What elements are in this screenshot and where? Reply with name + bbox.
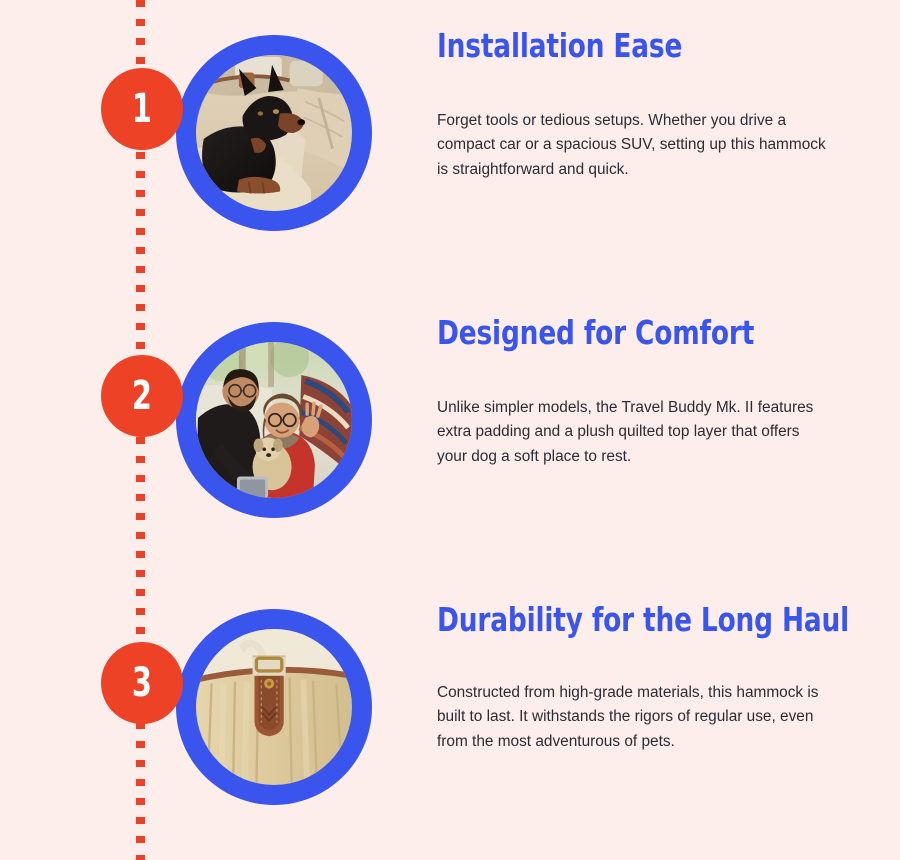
- step-number-label-2: 2: [132, 376, 152, 416]
- step-title-1: Installation Ease: [437, 28, 757, 65]
- step-text-column-3: Durability for the Long Haul Constructed…: [437, 602, 837, 754]
- step-photo-3: [196, 629, 352, 785]
- dog-in-car-photo-icon: [196, 55, 352, 211]
- step-body-1: Forget tools or tedious setups. Whether …: [437, 109, 829, 182]
- step-photo-1: [196, 55, 352, 211]
- hammock-strap-buckle-photo-icon: [196, 629, 352, 785]
- step-number-badge-3: 3: [101, 642, 183, 724]
- step-number-label-3: 3: [132, 663, 152, 703]
- step-photo-ring-2: [176, 322, 372, 518]
- step-title-2: Designed for Comfort: [437, 315, 757, 352]
- step-number-badge-1: 1: [101, 68, 183, 150]
- step-text-column-1: Installation Ease Forget tools or tediou…: [437, 28, 837, 182]
- step-text-column-2: Designed for Comfort Unlike simpler mode…: [437, 315, 837, 469]
- step-number-label-1: 1: [132, 89, 152, 129]
- step-body-2: Unlike simpler models, the Travel Buddy …: [437, 396, 829, 469]
- couple-selfie-with-dog-photo-icon: [196, 342, 352, 498]
- step-body-3: Constructed from high-grade materials, t…: [437, 681, 829, 754]
- step-number-badge-2: 2: [101, 355, 183, 437]
- step-title-3: Durability for the Long Haul: [437, 602, 757, 639]
- step-photo-2: [196, 342, 352, 498]
- step-photo-ring-3: [176, 609, 372, 805]
- step-photo-ring-1: [176, 35, 372, 231]
